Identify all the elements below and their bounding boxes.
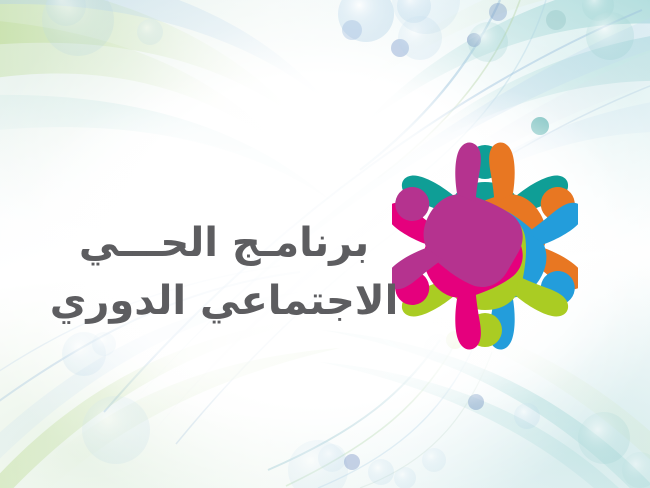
- wordmark: برنامـج الحـــي الاجتماعي الدوري: [48, 214, 400, 330]
- wordmark-line-2: الاجتماعي الدوري: [48, 272, 400, 330]
- wordmark-line-1: برنامـج الحـــي: [48, 214, 400, 272]
- banner-canvas: برنامـج الحـــي الاجتماعي الدوري: [0, 0, 650, 488]
- six-figure-circle-logo: [392, 134, 578, 356]
